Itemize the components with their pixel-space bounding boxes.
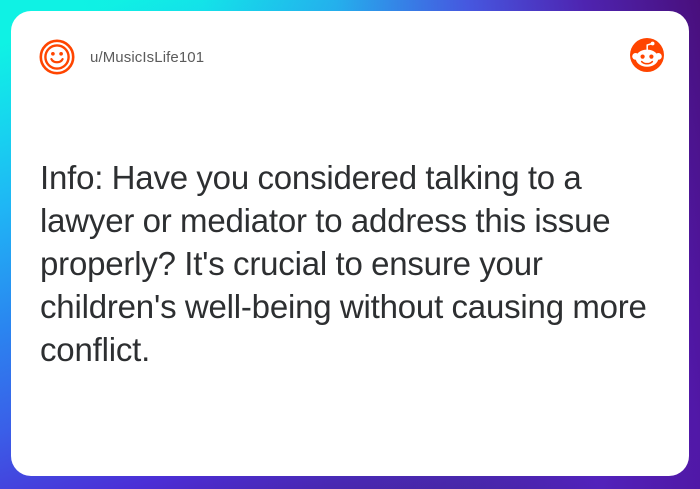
smiley-face-avatar-icon[interactable] <box>38 38 76 76</box>
reddit-snoo-icon[interactable] <box>629 37 665 73</box>
username-label[interactable]: u/MusicIsLife101 <box>90 50 204 65</box>
gradient-background-frame: u/MusicIsLife101 Info: Have you consider… <box>0 0 700 489</box>
post-header: u/MusicIsLife101 <box>38 36 665 78</box>
reddit-post-card: u/MusicIsLife101 Info: Have you consider… <box>11 11 689 476</box>
post-body-text: Info: Have you considered talking to a l… <box>40 156 652 371</box>
